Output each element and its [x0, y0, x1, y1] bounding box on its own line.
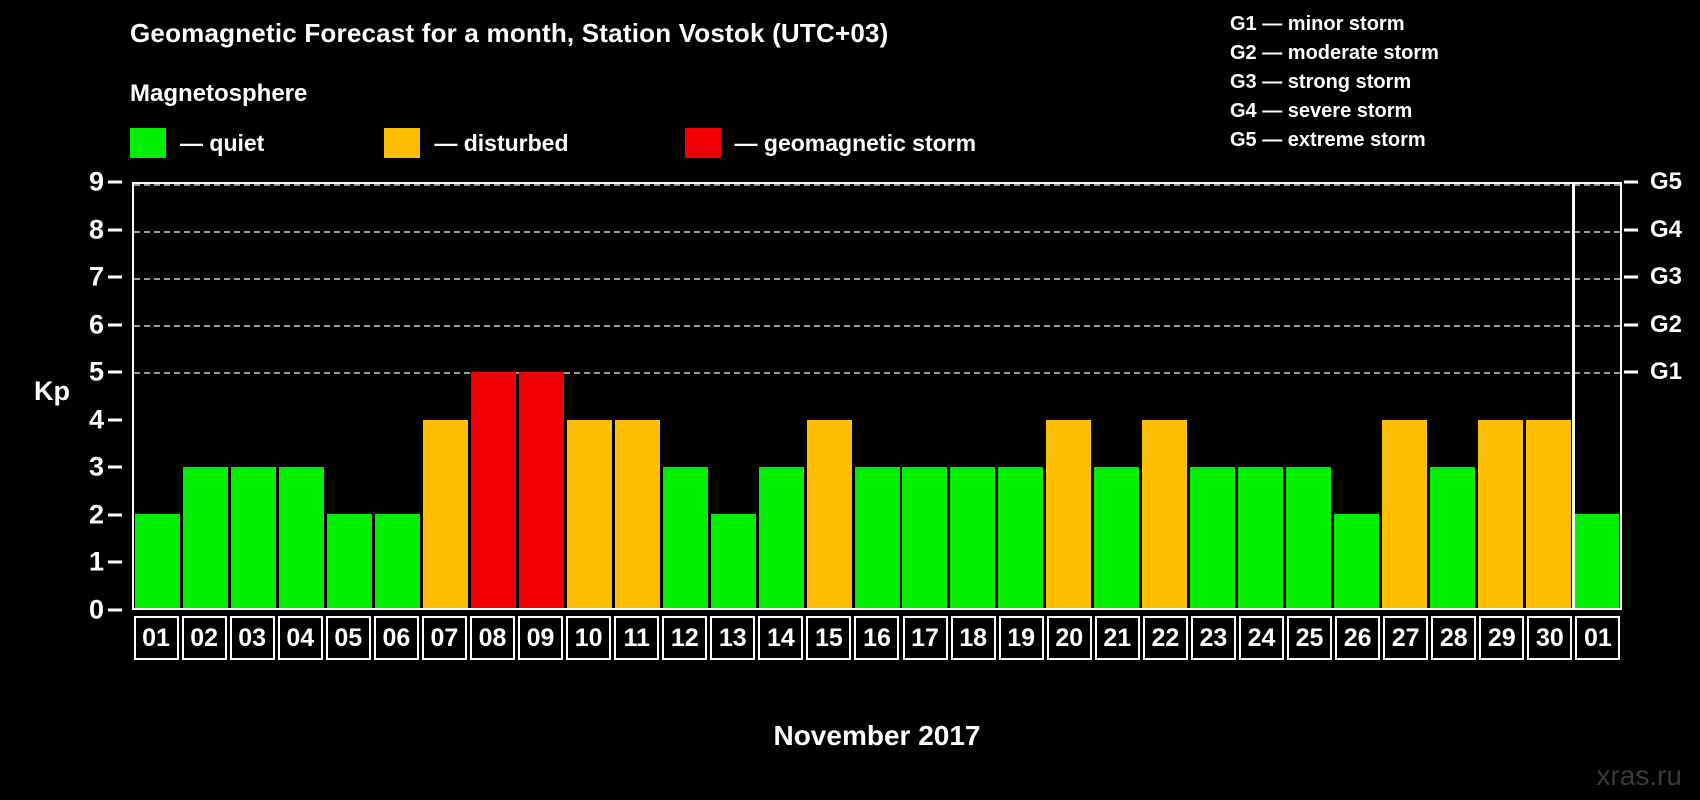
bar-day-28-27[interactable]: [1430, 467, 1475, 608]
legend-entry-green: — quiet: [130, 128, 264, 158]
bar-day-19-18[interactable]: [998, 467, 1043, 608]
bar-day-13-12[interactable]: [711, 514, 756, 608]
bar-day-25-24[interactable]: [1286, 467, 1331, 608]
day-label-06-5[interactable]: 06: [374, 616, 419, 660]
day-label-13-12[interactable]: 13: [710, 616, 755, 660]
bar-day-04-3[interactable]: [279, 467, 324, 608]
red-swatch: [685, 128, 721, 158]
day-label-03-2[interactable]: 03: [230, 616, 275, 660]
bar-day-30-29[interactable]: [1526, 420, 1571, 608]
day-cell: 05: [324, 614, 372, 662]
g-tick-label-G2: G2: [1650, 311, 1682, 339]
bar-slot: [326, 184, 374, 608]
y-tick-label-1: 1: [89, 547, 104, 578]
bar-slot: [1285, 184, 1333, 608]
y-tick-label-5: 5: [89, 357, 104, 388]
green-swatch: [130, 128, 166, 158]
bar-day-15-14[interactable]: [807, 420, 852, 608]
bar-slot: [1428, 184, 1476, 608]
day-cell: 10: [565, 614, 613, 662]
bar-day-17-16[interactable]: [902, 467, 947, 608]
g-scale-row-2: G2 — moderate storm: [1230, 39, 1439, 68]
g-scale-legend: G1 — minor stormG2 — moderate stormG3 — …: [1230, 10, 1439, 155]
g-scale-row-3: G3 — strong storm: [1230, 68, 1439, 97]
bar-slot: [278, 184, 326, 608]
bar-slot: [134, 184, 182, 608]
day-cell: 03: [228, 614, 276, 662]
bar-day-22-21[interactable]: [1142, 420, 1187, 608]
bar-slot: [1141, 184, 1189, 608]
page-title: Geomagnetic Forecast for a month, Statio…: [130, 18, 889, 49]
legend-entry-orange: — disturbed: [384, 128, 568, 158]
day-cell: 02: [180, 614, 228, 662]
legend-label: — geomagnetic storm: [735, 130, 977, 157]
day-label-17-16[interactable]: 17: [903, 616, 948, 660]
bar-day-09-8[interactable]: [519, 372, 564, 608]
bar-day-08-7[interactable]: [471, 372, 516, 608]
x-axis-day-labels: 0102030405060708091011121314151617181920…: [132, 614, 1622, 662]
bar-day-26-25[interactable]: [1334, 514, 1379, 608]
bar-slot: [1237, 184, 1285, 608]
bar-slot: [374, 184, 422, 608]
bar-slot: [230, 184, 278, 608]
day-cell: 17: [901, 614, 949, 662]
bar-slot: [709, 184, 757, 608]
bar-slot: [1572, 184, 1620, 608]
bar-slot: [949, 184, 997, 608]
bar-day-27-26[interactable]: [1382, 420, 1427, 608]
bar-day-20-19[interactable]: [1046, 420, 1091, 608]
bar-slot: [757, 184, 805, 608]
plot-area: [132, 182, 1622, 610]
y-tick-mark-6: [108, 323, 122, 326]
day-cell: 29: [1478, 614, 1526, 662]
day-cell: 01: [1574, 614, 1622, 662]
day-label-23-22[interactable]: 23: [1191, 616, 1236, 660]
magnetosphere-label: Magnetosphere: [130, 80, 307, 108]
bar-day-24-23[interactable]: [1238, 467, 1283, 608]
day-cell: 21: [1093, 614, 1141, 662]
day-label-11-10[interactable]: 11: [614, 616, 659, 660]
day-label-21-20[interactable]: 21: [1095, 616, 1140, 660]
y-tick-mark-1: [108, 561, 122, 564]
day-cell: 23: [1189, 614, 1237, 662]
day-cell: 04: [276, 614, 324, 662]
bar-day-07-6[interactable]: [423, 420, 468, 608]
bar-day-01-0[interactable]: [135, 514, 180, 608]
watermark: xras.ru: [1596, 760, 1682, 792]
day-label-27-26[interactable]: 27: [1383, 616, 1428, 660]
y-tick-mark-3: [108, 466, 122, 469]
bar-slot: [661, 184, 709, 608]
x-axis-title: November 2017: [132, 720, 1622, 752]
y-tick-label-3: 3: [89, 452, 104, 483]
day-cell: 25: [1286, 614, 1334, 662]
bar-slot: [182, 184, 230, 608]
day-label-09-8[interactable]: 09: [518, 616, 563, 660]
month-separator-line: [1572, 184, 1575, 608]
bar-series: [134, 184, 1620, 608]
day-label-01-0[interactable]: 01: [134, 616, 179, 660]
y-tick-label-6: 6: [89, 309, 104, 340]
day-label-05-4[interactable]: 05: [326, 616, 371, 660]
bar-slot: [1380, 184, 1428, 608]
day-label-25-24[interactable]: 25: [1287, 616, 1332, 660]
bar-day-02-1[interactable]: [183, 467, 228, 608]
g-scale-row-4: G4 — severe storm: [1230, 97, 1439, 126]
g-tick-label-G5: G5: [1650, 168, 1682, 196]
day-label-01-30[interactable]: 01: [1575, 616, 1620, 660]
y-tick-mark-9: [108, 181, 122, 184]
magnetosphere-legend: — quiet— disturbed— geomagnetic storm: [130, 128, 976, 158]
day-cell: 22: [1141, 614, 1189, 662]
day-cell: 07: [420, 614, 468, 662]
y-tick-label-9: 9: [89, 167, 104, 198]
bar-slot: [518, 184, 566, 608]
g-tick-label-G3: G3: [1650, 263, 1682, 291]
day-cell: 08: [468, 614, 516, 662]
bar-slot: [901, 184, 949, 608]
day-cell: 27: [1382, 614, 1430, 662]
day-cell: 19: [997, 614, 1045, 662]
bar-slot: [613, 184, 661, 608]
bar-slot: [1332, 184, 1380, 608]
legend-label: — quiet: [180, 130, 264, 157]
day-label-04-3[interactable]: 04: [278, 616, 323, 660]
y-tick-label-2: 2: [89, 499, 104, 530]
day-cell: 06: [372, 614, 420, 662]
bar-slot: [1189, 184, 1237, 608]
orange-swatch: [384, 128, 420, 158]
legend-entry-red: — geomagnetic storm: [685, 128, 977, 158]
bar-slot: [1045, 184, 1093, 608]
g-tick-mark-G2: [1624, 323, 1638, 326]
g-tick-mark-G3: [1624, 276, 1638, 279]
bar-day-03-2[interactable]: [231, 467, 276, 608]
bar-day-14-13[interactable]: [759, 467, 804, 608]
day-cell: 24: [1237, 614, 1285, 662]
y-tick-mark-4: [108, 418, 122, 421]
bar-slot: [470, 184, 518, 608]
y-tick-mark-0: [108, 609, 122, 612]
bar-day-21-20[interactable]: [1094, 467, 1139, 608]
day-label-14-13[interactable]: 14: [758, 616, 803, 660]
y-tick-label-8: 8: [89, 214, 104, 245]
g-axis: G1G2G3G4G5: [1624, 182, 1698, 610]
day-cell: 26: [1334, 614, 1382, 662]
g-tick-mark-G5: [1624, 181, 1638, 184]
bar-day-18-17[interactable]: [950, 467, 995, 608]
y-tick-mark-5: [108, 371, 122, 374]
day-label-28-27[interactable]: 28: [1431, 616, 1476, 660]
day-label-02-1[interactable]: 02: [182, 616, 227, 660]
bar-slot: [422, 184, 470, 608]
day-label-30-29[interactable]: 30: [1527, 616, 1572, 660]
bar-day-01-30[interactable]: [1574, 514, 1619, 608]
day-cell: 16: [853, 614, 901, 662]
bar-slot: [1476, 184, 1524, 608]
bar-slot: [1093, 184, 1141, 608]
bar-day-16-15[interactable]: [855, 467, 900, 608]
day-label-18-17[interactable]: 18: [951, 616, 996, 660]
day-label-24-23[interactable]: 24: [1239, 616, 1284, 660]
day-cell: 01: [132, 614, 180, 662]
y-tick-label-7: 7: [89, 262, 104, 293]
day-cell: 20: [1045, 614, 1093, 662]
bar-slot: [1524, 184, 1572, 608]
bar-slot: [565, 184, 613, 608]
bar-slot: [853, 184, 901, 608]
y-tick-mark-8: [108, 228, 122, 231]
g-scale-row-1: G1 — minor storm: [1230, 10, 1439, 39]
day-cell: 18: [949, 614, 997, 662]
day-label-07-6[interactable]: 07: [422, 616, 467, 660]
g-tick-label-G1: G1: [1650, 358, 1682, 386]
day-label-22-21[interactable]: 22: [1143, 616, 1188, 660]
day-label-08-7[interactable]: 08: [470, 616, 515, 660]
bar-day-11-10[interactable]: [615, 420, 660, 608]
y-tick-label-4: 4: [89, 404, 104, 435]
bar-day-06-5[interactable]: [375, 514, 420, 608]
day-cell: 15: [805, 614, 853, 662]
day-label-10-9[interactable]: 10: [566, 616, 611, 660]
day-cell: 12: [661, 614, 709, 662]
day-cell: 30: [1526, 614, 1574, 662]
legend-label: — disturbed: [434, 130, 568, 157]
day-label-16-15[interactable]: 16: [854, 616, 899, 660]
y-axis: 0123456789: [60, 182, 122, 610]
bar-day-12-11[interactable]: [663, 467, 708, 608]
day-cell: 28: [1430, 614, 1478, 662]
bar-day-05-4[interactable]: [327, 514, 372, 608]
g-tick-mark-G4: [1624, 228, 1638, 231]
day-cell: 11: [613, 614, 661, 662]
day-cell: 09: [517, 614, 565, 662]
bar-slot: [997, 184, 1045, 608]
day-cell: 13: [709, 614, 757, 662]
y-tick-label-0: 0: [89, 595, 104, 626]
bar-day-29-28[interactable]: [1478, 420, 1523, 608]
day-label-26-25[interactable]: 26: [1335, 616, 1380, 660]
day-cell: 14: [757, 614, 805, 662]
day-label-20-19[interactable]: 20: [1047, 616, 1092, 660]
y-tick-mark-7: [108, 276, 122, 279]
g-scale-row-5: G5 — extreme storm: [1230, 126, 1439, 155]
y-tick-mark-2: [108, 513, 122, 516]
day-label-15-14[interactable]: 15: [806, 616, 851, 660]
bar-day-23-22[interactable]: [1190, 467, 1235, 608]
bar-slot: [805, 184, 853, 608]
day-label-29-28[interactable]: 29: [1479, 616, 1524, 660]
g-tick-label-G4: G4: [1650, 216, 1682, 244]
day-label-12-11[interactable]: 12: [662, 616, 707, 660]
bar-day-10-9[interactable]: [567, 420, 612, 608]
day-label-19-18[interactable]: 19: [999, 616, 1044, 660]
g-tick-mark-G1: [1624, 371, 1638, 374]
